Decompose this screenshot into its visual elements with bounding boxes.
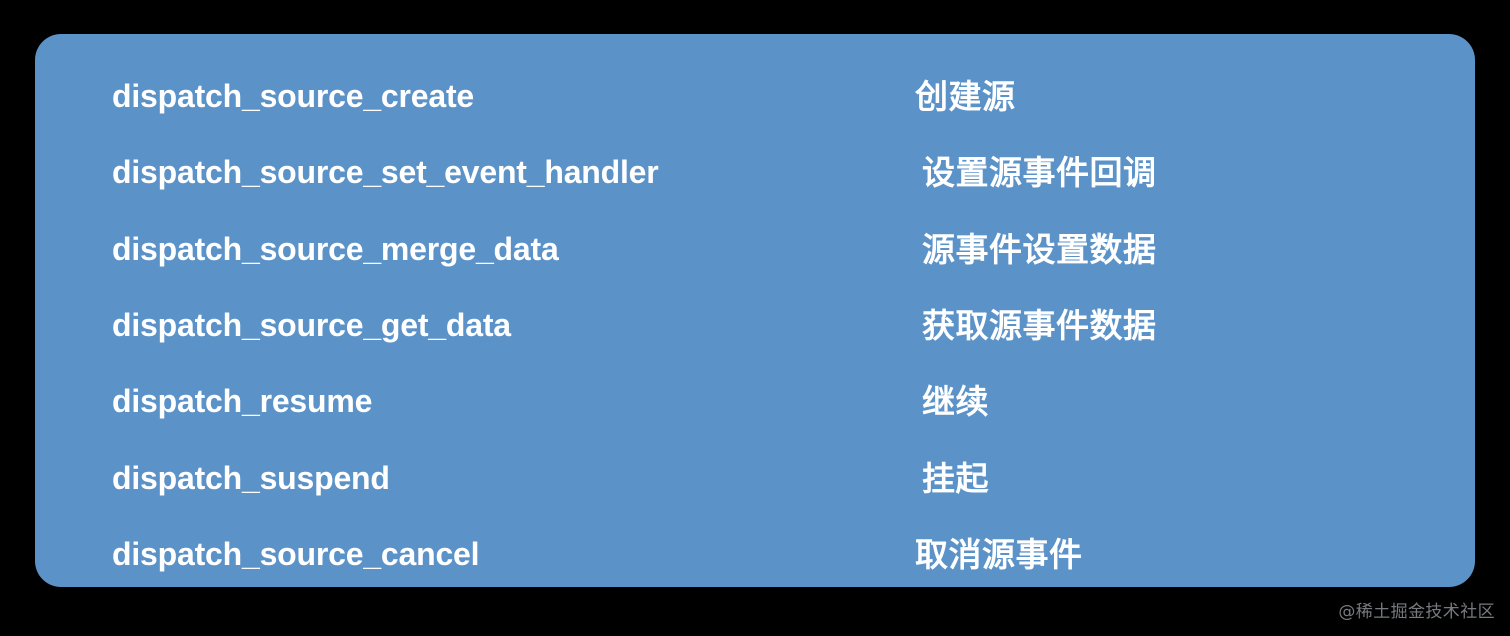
api-function-name: dispatch_source_create (112, 80, 474, 112)
api-description: 继续 (922, 385, 989, 418)
table-row: dispatch_resume继续 (35, 378, 1475, 424)
table-row: dispatch_suspend挂起 (35, 455, 1475, 501)
api-function-name: dispatch_resume (112, 385, 372, 417)
watermark: @稀土掘金技术社区 (1338, 597, 1495, 622)
api-description: 创建源 (915, 80, 1016, 113)
table-row: dispatch_source_create创建源 (35, 73, 1475, 119)
api-function-name: dispatch_source_set_event_handler (112, 156, 659, 188)
api-description: 取消源事件 (915, 538, 1083, 571)
table-row: dispatch_source_get_data获取源事件数据 (35, 302, 1475, 348)
api-function-name: dispatch_source_get_data (112, 309, 511, 341)
api-reference-card: dispatch_source_create创建源dispatch_source… (35, 34, 1475, 587)
api-function-name: dispatch_suspend (112, 462, 390, 494)
api-description: 挂起 (922, 462, 989, 495)
table-row: dispatch_source_set_event_handler设置源事件回调 (35, 149, 1475, 195)
table-row: dispatch_source_cancel取消源事件 (35, 531, 1475, 577)
api-description: 源事件设置数据 (922, 233, 1157, 266)
api-function-name: dispatch_source_merge_data (112, 233, 559, 265)
api-row-list: dispatch_source_create创建源dispatch_source… (35, 34, 1475, 587)
api-description: 设置源事件回调 (922, 156, 1157, 189)
api-function-name: dispatch_source_cancel (112, 538, 479, 570)
table-row: dispatch_source_merge_data源事件设置数据 (35, 226, 1475, 272)
api-description: 获取源事件数据 (922, 309, 1157, 342)
